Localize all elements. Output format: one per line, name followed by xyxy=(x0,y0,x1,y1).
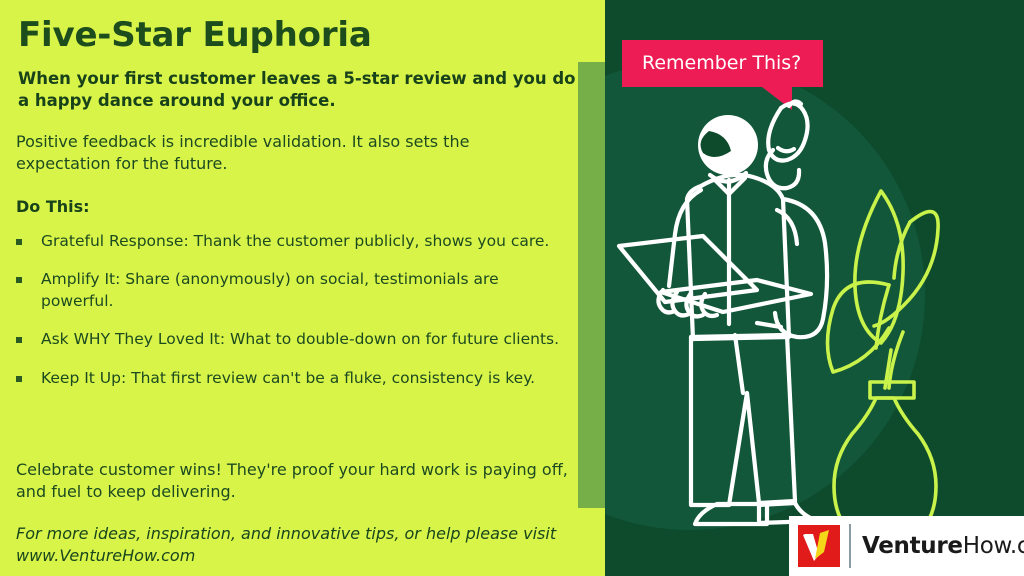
list-item-text: Amplify It: Share (anonymously) on socia… xyxy=(41,269,571,312)
logo-wordmark: VentureHow.com xyxy=(862,533,1024,559)
list-item: Grateful Response: Thank the customer pu… xyxy=(16,231,576,252)
bullet-square-icon xyxy=(16,277,22,283)
logo-divider xyxy=(849,524,851,568)
list-item-text: Keep It Up: That first review can't be a… xyxy=(41,368,571,389)
venturehow-logo[interactable]: VentureHow.com xyxy=(789,516,1024,576)
right-illustration-panel: Remember This? xyxy=(605,0,1024,576)
section-heading: Do This: xyxy=(16,197,90,216)
bullet-square-icon xyxy=(16,337,22,343)
footer-note: For more ideas, inspiration, and innovat… xyxy=(16,523,581,567)
logo-brand-regular: How.com xyxy=(963,533,1024,559)
list-item-text: Ask WHY They Loved It: What to double-do… xyxy=(41,329,571,350)
logo-brand-bold: Venture xyxy=(862,533,963,559)
page-title: Five-Star Euphoria xyxy=(18,15,372,55)
list-item-text: Grateful Response: Thank the customer pu… xyxy=(41,231,571,252)
left-content-panel: Five-Star Euphoria When your first custo… xyxy=(0,0,605,576)
page-subtitle: When your first customer leaves a 5-star… xyxy=(18,68,578,113)
list-item: Keep It Up: That first review can't be a… xyxy=(16,368,576,389)
intro-paragraph: Positive feedback is incredible validati… xyxy=(16,131,556,175)
bullet-square-icon xyxy=(16,239,22,245)
potted-plant-line-icon xyxy=(605,0,1024,576)
bullet-list: Grateful Response: Thank the customer pu… xyxy=(16,231,576,406)
slide-canvas: Five-Star Euphoria When your first custo… xyxy=(0,0,1024,576)
olive-accent-band xyxy=(578,62,605,508)
list-item: Amplify It: Share (anonymously) on socia… xyxy=(16,269,576,312)
bullet-square-icon xyxy=(16,376,22,382)
closing-paragraph: Celebrate customer wins! They're proof y… xyxy=(16,459,576,503)
list-item: Ask WHY They Loved It: What to double-do… xyxy=(16,329,576,350)
venturehow-logo-mark-icon xyxy=(798,525,840,567)
